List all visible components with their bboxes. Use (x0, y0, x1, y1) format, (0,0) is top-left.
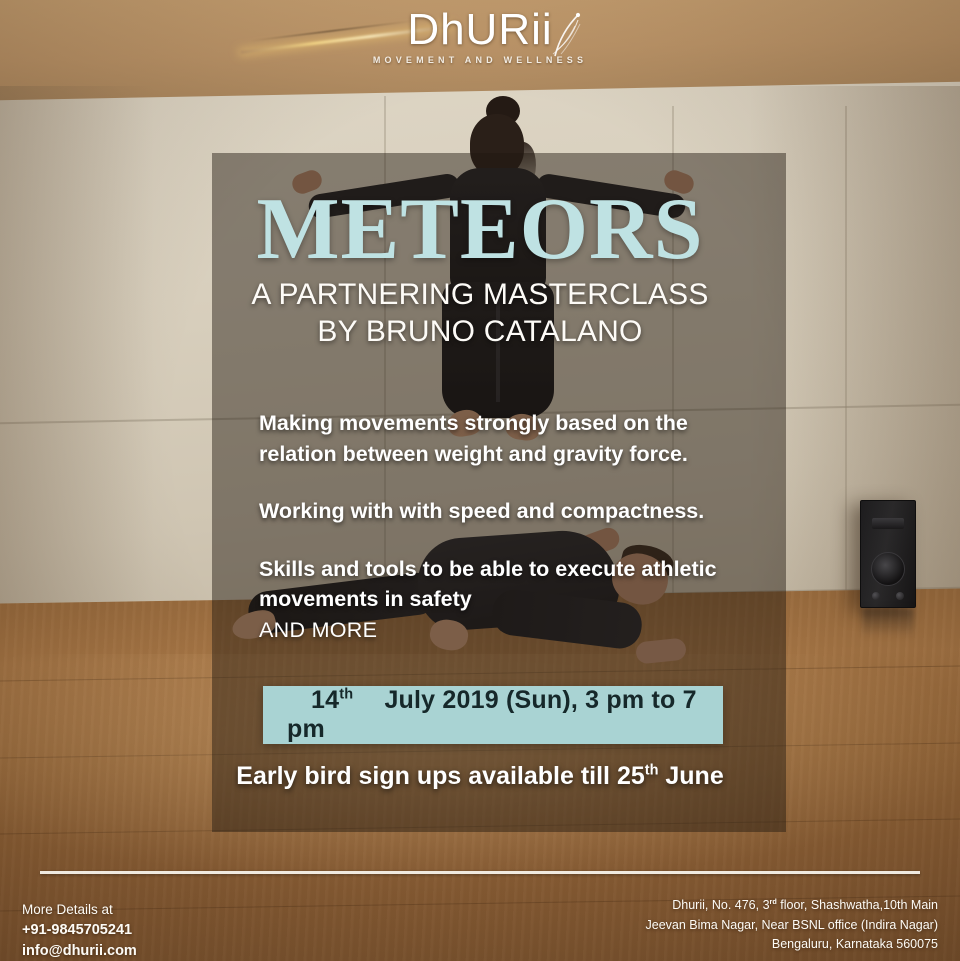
body-paragraph-1: Making movements strongly based on the r… (259, 408, 759, 469)
date-banner: 14th July 2019 (Sun), 3 pm to 7 pm (263, 686, 723, 744)
logo-text: DhURii (407, 5, 552, 54)
footer-contact-lead: More Details at (22, 900, 137, 920)
subtitle-line-1: A PARTNERING MASTERCLASS (0, 277, 960, 314)
body-and-more: AND MORE (259, 618, 377, 642)
address-line1-sup: rd (770, 897, 777, 906)
body-paragraph-3: Skills and tools to be able to execute a… (259, 554, 759, 646)
logo-tagline: MOVEMENT AND WELLNESS (0, 55, 960, 65)
early-bird-suffix: th (645, 763, 659, 779)
early-bird-prefix: Early bird sign ups available till 25 (236, 762, 644, 790)
early-bird-note: Early bird sign ups available till 25th … (0, 762, 960, 791)
footer-address: Dhurii, No. 476, 3rd floor, Shashwatha,1… (646, 896, 939, 954)
page-subtitle: A PARTNERING MASTERCLASS BY BRUNO CATALA… (0, 277, 960, 350)
footer-phone[interactable]: +91-9845705241 (22, 920, 137, 941)
date-day-suffix: th (339, 687, 353, 703)
footer-address-line-1: Dhurii, No. 476, 3rd floor, Shashwatha,1… (646, 896, 939, 916)
footer-divider (40, 871, 920, 874)
subtitle-line-2: BY BRUNO CATALANO (0, 314, 960, 351)
brand-logo: DhURii MOVEMENT AND WELLNESS (0, 8, 960, 65)
footer-email[interactable]: info@dhurii.com (22, 941, 137, 961)
footer-contact: More Details at +91-9845705241 info@dhur… (22, 900, 137, 961)
body-copy: Making movements strongly based on the r… (259, 408, 759, 645)
page-title: METEORS (0, 190, 960, 271)
early-bird-tail: June (658, 762, 723, 790)
logo-wordmark: DhURii (407, 8, 552, 52)
body-paragraph-3-text: Skills and tools to be able to execute a… (259, 557, 717, 612)
date-banner-text: 14th July 2019 (Sun), 3 pm to 7 pm (263, 686, 723, 744)
date-day: 14 (287, 686, 339, 714)
footer-address-line-3: Bengaluru, Karnataka 560075 (646, 935, 939, 954)
footer-address-line-2: Jeevan Bima Nagar, Near BSNL office (Ind… (646, 916, 939, 935)
address-line1-a: Dhurii, No. 476, 3 (672, 898, 769, 912)
leaf-flourish-icon (549, 10, 583, 58)
address-line1-b: floor, Shashwatha,10th Main (777, 898, 938, 912)
body-paragraph-2: Working with with speed and compactness. (259, 496, 759, 527)
poster-root: DhURii MOVEMENT AND WELLNESS METEORS A P… (0, 0, 960, 961)
